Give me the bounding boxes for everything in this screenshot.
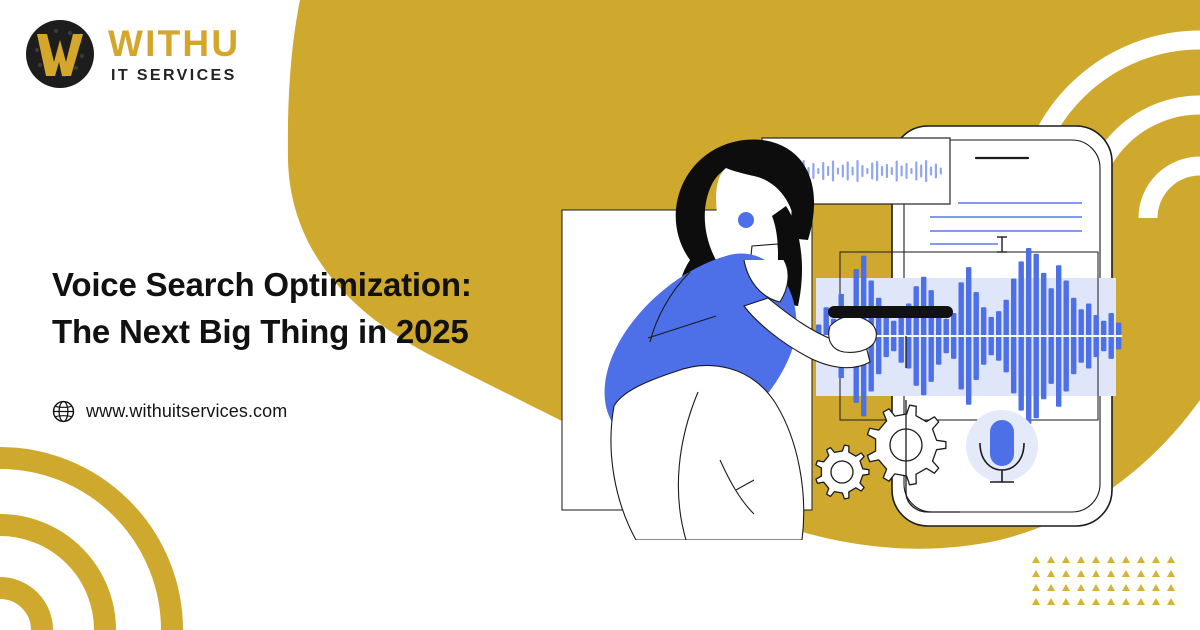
brand-name: WITHU xyxy=(108,25,240,62)
headline-line-1: Voice Search Optimization: xyxy=(52,266,472,303)
concentric-arcs-bottom-left xyxy=(0,430,200,630)
triangle-dot-grid xyxy=(1032,556,1182,614)
text-content: Voice Search Optimization: The Next Big … xyxy=(52,262,572,423)
brand-wordmark: WITHU IT SERVICES xyxy=(108,25,240,84)
brand-tagline: IT SERVICES xyxy=(111,68,240,84)
gear-small-icon xyxy=(816,445,869,499)
website-url: www.withuitservices.com xyxy=(86,401,287,422)
voice-search-illustration xyxy=(540,110,1180,540)
headline-line-2: The Next Big Thing in 2025 xyxy=(52,309,572,356)
brand-logo[interactable]: WITHU IT SERVICES xyxy=(24,18,240,90)
globe-icon xyxy=(52,400,75,423)
withu-w-monogram-icon xyxy=(24,18,96,90)
microphone-icon xyxy=(990,420,1014,466)
gear-large-icon xyxy=(867,405,946,485)
website-link[interactable]: www.withuitservices.com xyxy=(52,400,572,423)
page-title: Voice Search Optimization: The Next Big … xyxy=(52,262,572,356)
microphone-button[interactable] xyxy=(966,410,1038,482)
earring xyxy=(738,212,754,228)
held-phone xyxy=(828,306,953,318)
banner-canvas: WITHU IT SERVICES xyxy=(0,0,1200,630)
